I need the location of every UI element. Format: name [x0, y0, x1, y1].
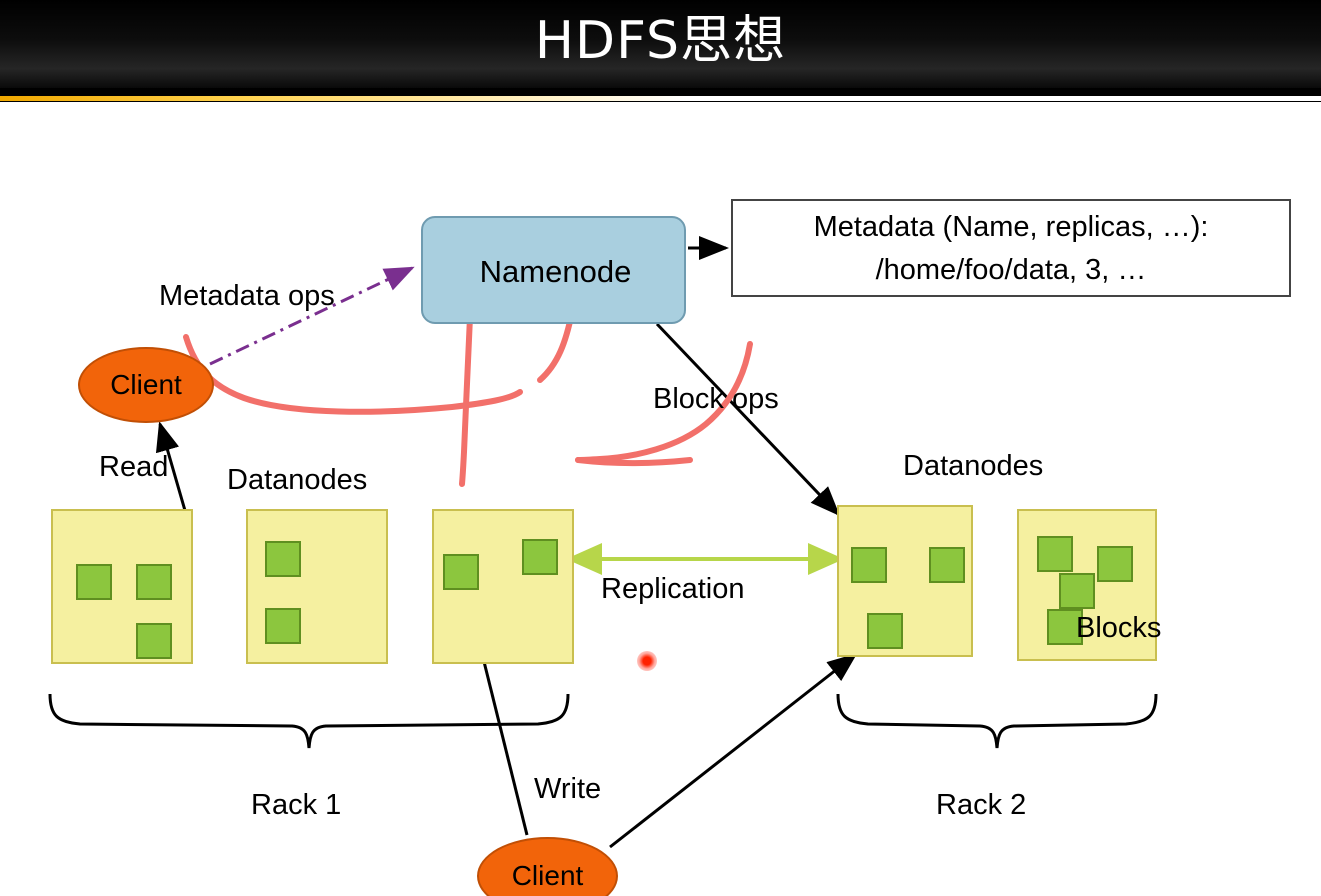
- client-read-label: Client: [80, 349, 212, 421]
- label-datanodes-left: Datanodes: [227, 464, 367, 497]
- datanode-rack1-3[interactable]: [432, 509, 574, 664]
- client-write-label: Client: [479, 839, 616, 896]
- metadata-line-2: /home/foo/data, 3, …: [733, 249, 1289, 292]
- pen-stroke-underline: [578, 460, 690, 463]
- label-read: Read: [99, 451, 168, 484]
- pen-stroke-vertical: [462, 317, 470, 484]
- block: [265, 541, 301, 577]
- label-write: Write: [534, 773, 601, 806]
- client-read[interactable]: Client: [78, 347, 214, 423]
- block: [136, 564, 172, 600]
- block: [867, 613, 903, 649]
- namenode-label: Namenode: [423, 218, 688, 326]
- block: [1037, 536, 1073, 572]
- hdfs-architecture-diagram: Namenode Metadata (Name, replicas, …): /…: [0, 102, 1321, 896]
- block: [1097, 546, 1133, 582]
- block: [522, 539, 558, 575]
- block: [851, 547, 887, 583]
- page-title: HDFS思想: [0, 0, 1321, 88]
- label-datanodes-right: Datanodes: [903, 450, 1043, 483]
- label-metadata-ops: Metadata ops: [159, 280, 335, 313]
- block: [76, 564, 112, 600]
- label-replication: Replication: [601, 573, 744, 606]
- metadata-line-1: Metadata (Name, replicas, …):: [733, 206, 1289, 249]
- block: [929, 547, 965, 583]
- slide-title-bar: HDFS思想: [0, 0, 1321, 88]
- label-blocks: Blocks: [1076, 612, 1161, 645]
- datanode-rack2-1[interactable]: [837, 505, 973, 657]
- block: [443, 554, 479, 590]
- label-block-ops: Block ops: [653, 383, 779, 416]
- namenode-box[interactable]: Namenode: [421, 216, 686, 324]
- laser-pointer-dot: [637, 651, 657, 671]
- datanode-rack1-1[interactable]: [51, 509, 193, 664]
- block: [1059, 573, 1095, 609]
- block: [265, 608, 301, 644]
- client-write[interactable]: Client: [477, 837, 618, 896]
- datanode-rack1-2[interactable]: [246, 509, 388, 664]
- label-rack1: Rack 1: [251, 789, 341, 822]
- label-rack2: Rack 2: [936, 789, 1026, 822]
- block: [136, 623, 172, 659]
- slide-root: HDFS思想: [0, 0, 1321, 896]
- metadata-box: Metadata (Name, replicas, …): /home/foo/…: [731, 199, 1291, 297]
- title-accent-rule: [0, 96, 1321, 101]
